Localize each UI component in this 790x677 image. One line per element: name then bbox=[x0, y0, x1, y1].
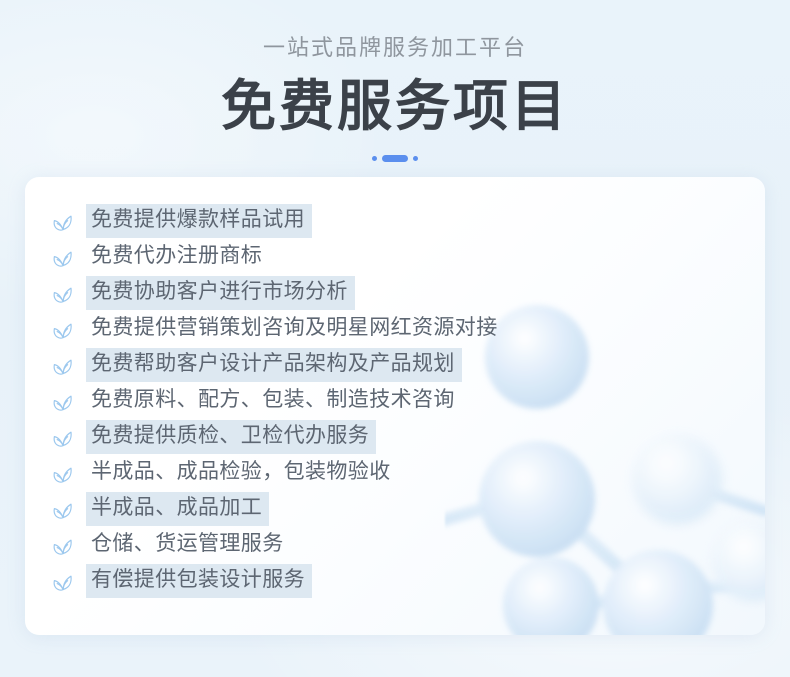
list-item-label: 仓储、货运管理服务 bbox=[86, 528, 291, 561]
leaf-icon bbox=[48, 386, 78, 416]
services-card: 免费提供爆款样品试用 免费代办注册商标 bbox=[25, 177, 765, 635]
leaf-icon bbox=[48, 278, 78, 308]
list-item-label: 免费帮助客户设计产品架构及产品规划 bbox=[86, 348, 462, 381]
list-item[interactable]: 有偿提供包装设计服务 bbox=[48, 563, 745, 599]
list-item[interactable]: 半成品、成品加工 bbox=[48, 491, 745, 527]
divider-dot-right-icon bbox=[413, 156, 418, 161]
list-item[interactable]: 免费帮助客户设计产品架构及产品规划 bbox=[48, 347, 745, 383]
list-item-label: 免费提供营销策划咨询及明星网红资源对接 bbox=[86, 312, 505, 345]
list-item-label: 免费协助客户进行市场分析 bbox=[86, 276, 355, 309]
list-item[interactable]: 免费原料、配方、包装、制造技术咨询 bbox=[48, 383, 745, 419]
leaf-icon bbox=[48, 350, 78, 380]
leaf-icon bbox=[48, 206, 78, 236]
page-title: 免费服务项目 bbox=[0, 75, 790, 138]
leaf-icon bbox=[48, 458, 78, 488]
leaf-icon bbox=[48, 566, 78, 596]
list-item[interactable]: 免费协助客户进行市场分析 bbox=[48, 275, 745, 311]
list-item[interactable]: 免费提供营销策划咨询及明星网红资源对接 bbox=[48, 311, 745, 347]
divider-bar-icon bbox=[382, 155, 408, 162]
list-item[interactable]: 免费代办注册商标 bbox=[48, 239, 745, 275]
leaf-icon bbox=[48, 242, 78, 272]
title-divider bbox=[0, 154, 790, 164]
list-item-label: 免费原料、配方、包装、制造技术咨询 bbox=[86, 384, 462, 417]
divider-dot-left-icon bbox=[372, 156, 377, 161]
leaf-icon bbox=[48, 530, 78, 560]
list-item-label: 免费提供质检、卫检代办服务 bbox=[86, 420, 376, 453]
list-item-label: 免费提供爆款样品试用 bbox=[86, 204, 312, 237]
list-item[interactable]: 半成品、成品检验，包装物验收 bbox=[48, 455, 745, 491]
list-item-label: 有偿提供包装设计服务 bbox=[86, 564, 312, 597]
list-item-label: 半成品、成品检验，包装物验收 bbox=[86, 456, 398, 489]
list-item[interactable]: 免费提供质检、卫检代办服务 bbox=[48, 419, 745, 455]
page-header: 一站式品牌服务加工平台 免费服务项目 bbox=[0, 0, 790, 177]
page-subtitle: 一站式品牌服务加工平台 bbox=[0, 34, 790, 63]
services-list: 免费提供爆款样品试用 免费代办注册商标 bbox=[48, 203, 745, 599]
list-item[interactable]: 免费提供爆款样品试用 bbox=[48, 203, 745, 239]
list-item[interactable]: 仓储、货运管理服务 bbox=[48, 527, 745, 563]
list-item-label: 免费代办注册商标 bbox=[86, 240, 269, 273]
leaf-icon bbox=[48, 422, 78, 452]
list-item-label: 半成品、成品加工 bbox=[86, 492, 269, 525]
leaf-icon bbox=[48, 314, 78, 344]
leaf-icon bbox=[48, 494, 78, 524]
